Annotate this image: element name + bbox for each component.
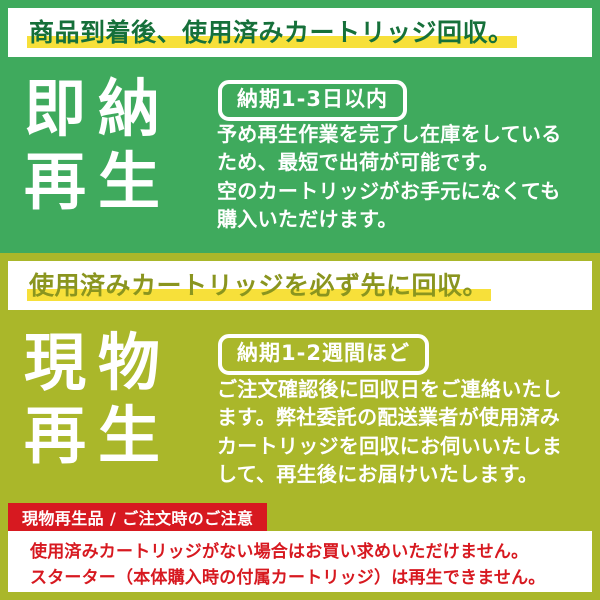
sokuno-keyword-line-2: 再生 xyxy=(24,145,199,218)
caution-line-2: スターター（本体購入時の付属カートリッジ）は再生できません。 xyxy=(30,566,592,592)
caution-box: 使用済みカートリッジがない場合はお買い求めいただけません。 スターター（本体購入… xyxy=(8,531,592,592)
caution-line-1: 使用済みカートリッジがない場合はお買い求めいただけません。 xyxy=(30,540,592,566)
caution-tag: 現物再生品 / ご注文時のご注意 xyxy=(8,503,267,531)
genbutsu-header-text-wrap: 使用済みカートリッジを必ず先に回収。 xyxy=(29,273,488,298)
sokuno-keyword-line-1: 即納 xyxy=(24,72,199,145)
sokuno-header-bar: 商品到着後、使用済みカートリッジ回収。 xyxy=(8,8,592,57)
genbutsu-description: ご注文確認後に回収日をご連絡いたし ます。弊社委託の配送業者が使用済み カートリ… xyxy=(217,375,597,489)
genbutsu-description-line-1: ご注文確認後に回収日をご連絡いたし xyxy=(217,375,597,403)
promo-poster: 商品到着後、使用済みカートリッジ回収。 即納 再生 納期1-3日以内 予め再生作… xyxy=(0,0,600,600)
sokuno-header-text-wrap: 商品到着後、使用済みカートリッジ回収。 xyxy=(29,20,514,45)
sokuno-description-line-4: 購入いただけます。 xyxy=(217,205,597,233)
sokuno-description: 予め再生作業を完了し在庫をしている ため、最短で出荷が可能です。 空のカートリッ… xyxy=(217,120,597,234)
genbutsu-keyword-line-1: 現物 xyxy=(24,326,199,399)
genbutsu-header-bar: 使用済みカートリッジを必ず先に回収。 xyxy=(8,261,592,310)
genbutsu-keyword: 現物 再生 xyxy=(24,326,199,472)
sokuno-header-label: 商品到着後、使用済みカートリッジ回収。 xyxy=(29,18,514,47)
sokuno-lead-time-badge: 納期1-3日以内 xyxy=(218,80,407,121)
genbutsu-keyword-line-2: 再生 xyxy=(24,399,199,472)
sokuno-description-line-1: 予め再生作業を完了し在庫をしている xyxy=(217,120,597,148)
sokuno-description-line-2: ため、最短で出荷が可能です。 xyxy=(217,148,597,176)
sokuno-keyword: 即納 再生 xyxy=(24,72,199,218)
genbutsu-description-line-4: して、再生後にお届けいたします。 xyxy=(217,460,597,488)
genbutsu-description-line-3: カートリッジを回収にお伺いいたしま xyxy=(217,432,597,460)
genbutsu-header-label: 使用済みカートリッジを必ず先に回収。 xyxy=(29,271,488,300)
sokuno-description-line-3: 空のカートリッジがお手元になくても xyxy=(217,177,597,205)
genbutsu-description-line-2: ます。弊社委託の配送業者が使用済み xyxy=(217,403,597,431)
genbutsu-lead-time-badge: 納期1-2週間ほど xyxy=(218,334,429,375)
